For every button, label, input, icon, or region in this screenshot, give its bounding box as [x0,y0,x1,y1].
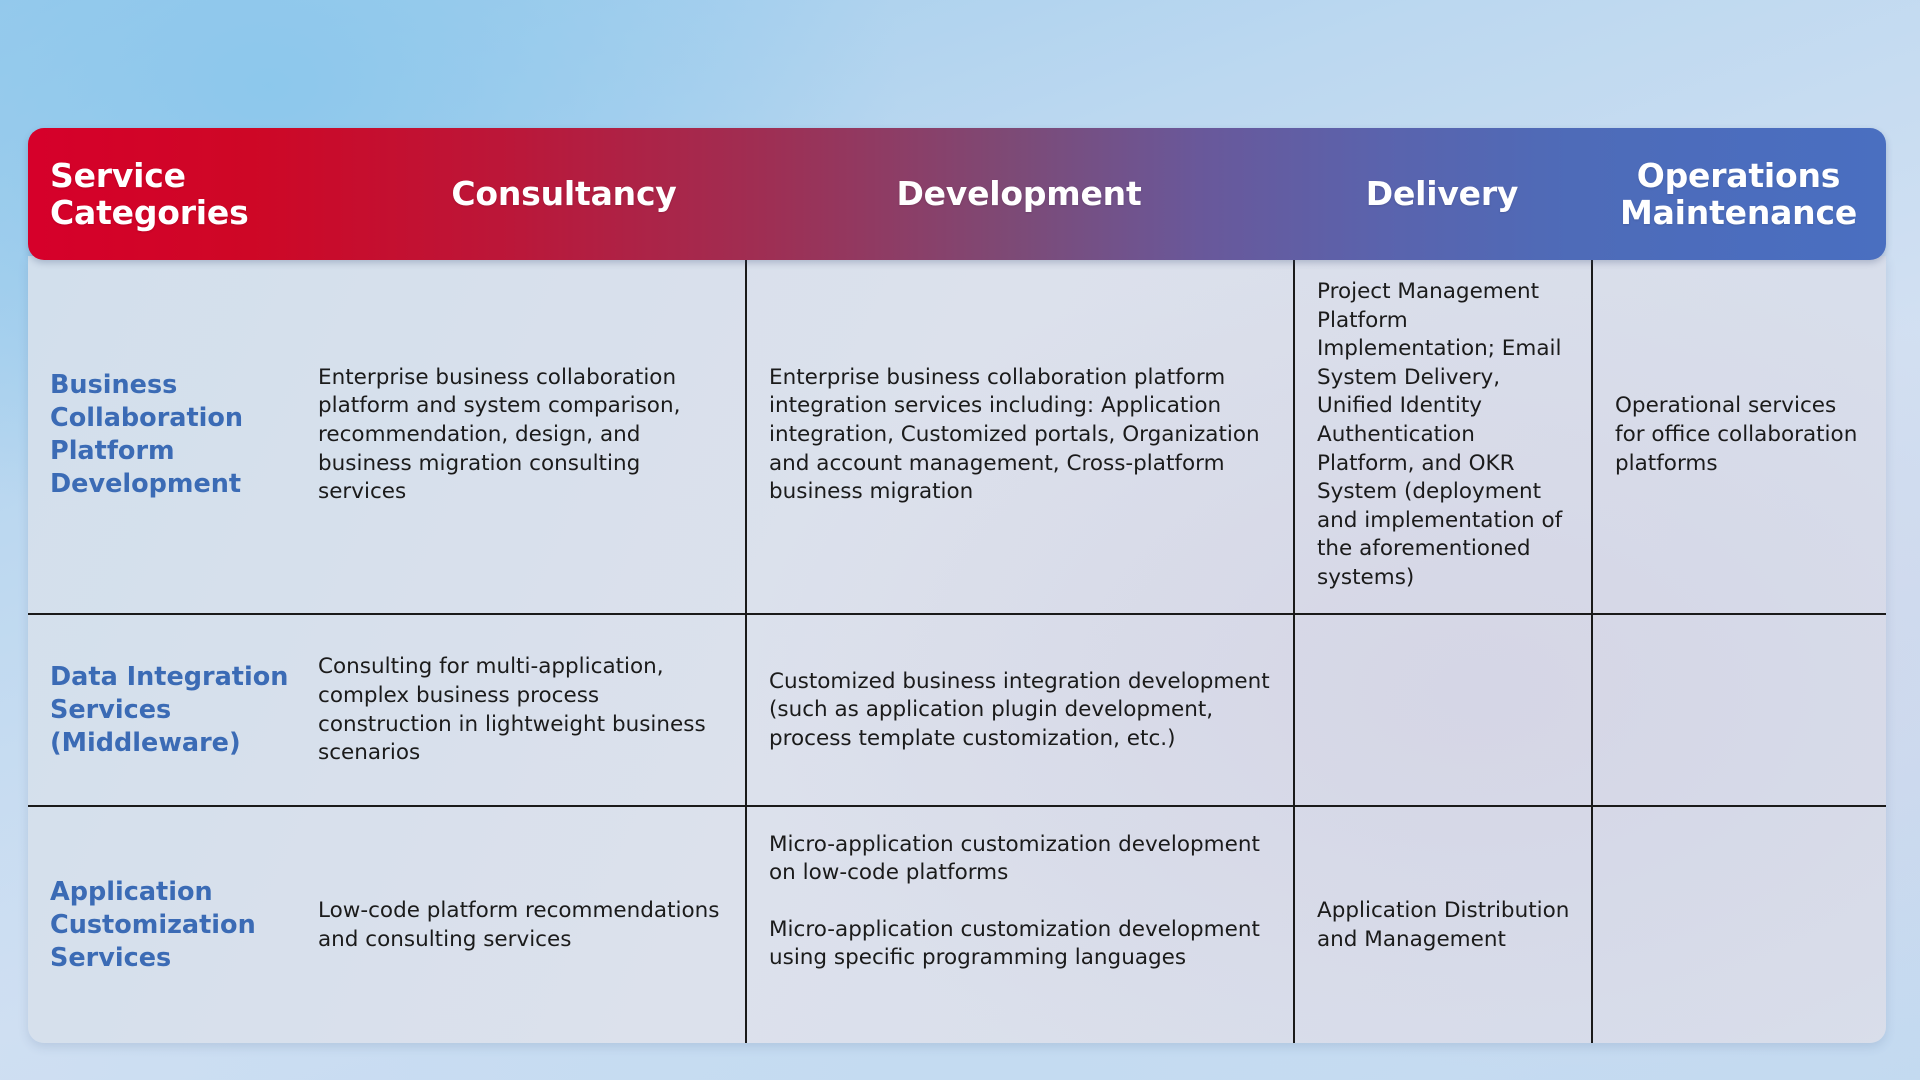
cell-consultancy: Enterprise business collaboration platfo… [296,256,745,613]
header-cell-operations-maintenance: Operations Maintenance [1591,128,1886,260]
table-header-row: Service Categories Consultancy Developme… [28,128,1886,260]
cell-development: Customized business integration developm… [745,615,1293,805]
cell-development-paragraph: Micro-application customization developm… [769,831,1273,888]
header-cell-delivery: Delivery [1293,128,1591,260]
header-service-categories-line1: Service [50,157,249,194]
cell-consultancy: Low-code platform recommendations and co… [296,807,745,1043]
row-category-label: Business Collaboration Platform Developm… [28,256,296,613]
cell-delivery: Application Distribution and Management [1293,807,1591,1043]
cell-development: Micro-application customization developm… [745,807,1293,1043]
header-operations-line1: Operations [1620,157,1857,194]
table-row: Business Collaboration Platform Developm… [28,256,1886,613]
table-row: Application Customization Services Low-c… [28,805,1886,1043]
cell-operations-maintenance [1591,615,1886,805]
cell-development-paragraph: Micro-application customization developm… [769,916,1273,973]
cell-operations-maintenance [1591,807,1886,1043]
cell-delivery: Project Management Platform Implementati… [1293,256,1591,613]
table-row: Data Integration Services (Middleware) C… [28,613,1886,805]
header-cell-consultancy: Consultancy [383,128,745,260]
cell-delivery [1293,615,1591,805]
cell-operations-maintenance: Operational services for office collabor… [1591,256,1886,613]
service-categories-table: Service Categories Consultancy Developme… [28,128,1886,1043]
cell-development: Enterprise business collaboration platfo… [745,256,1293,613]
row-category-label: Application Customization Services [28,807,296,1043]
cell-consultancy: Consulting for multi-application, comple… [296,615,745,805]
header-operations-line2: Maintenance [1620,194,1857,231]
table-body: Business Collaboration Platform Developm… [28,256,1886,1043]
header-cell-development: Development [745,128,1293,260]
row-category-label: Data Integration Services (Middleware) [28,615,296,805]
header-service-categories-line2: Categories [50,194,249,231]
header-cell-service-categories: Service Categories [28,128,383,260]
